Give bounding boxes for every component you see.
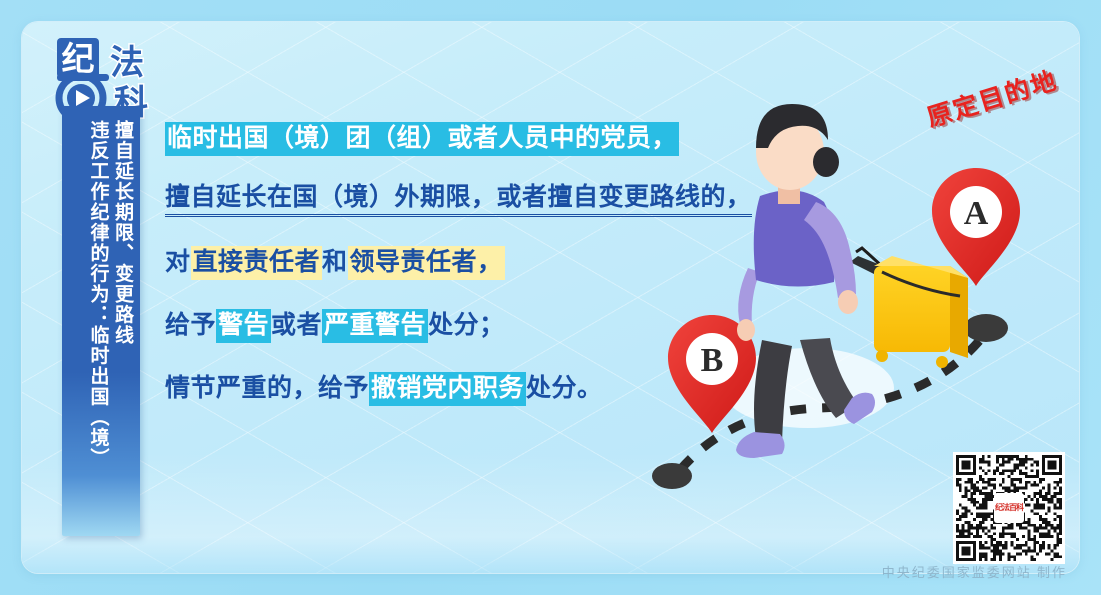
text-segment: 或者 (271, 313, 322, 338)
pin-a-label: A (964, 195, 989, 232)
text-segment: 情节严重的，给予 (165, 376, 369, 401)
pin-b-label: B (701, 342, 724, 379)
qr-center-badge: 纪法百科 (994, 493, 1024, 523)
qr-code[interactable]: 纪法百科 (953, 452, 1065, 564)
text-segment: 警告 (216, 309, 271, 343)
route-end-dot (964, 314, 1008, 342)
text-segment: 对 (165, 250, 191, 275)
svg-text:法: 法 (110, 44, 144, 82)
credit-line: 中央纪委国家监委网站 制作 (882, 562, 1067, 581)
text-segment: 临时出国（境）团（组）或者人员中的党员， (165, 122, 679, 156)
banner-line-right: 擅自延长期限、变更路线 (111, 120, 132, 536)
banner-line-left: 违反工作纪律的行为：临时出国（境） (87, 120, 108, 536)
yellow-suitcase (850, 248, 968, 368)
shoe-left (736, 432, 785, 458)
hair-bun (813, 147, 839, 177)
text-segment: 严重警告 (322, 309, 428, 343)
text-segment: 给予 (165, 313, 216, 338)
poster: 纪 法 科 擅自延长期限、变更路线 违反工作纪律的行为：临时出国（境） 临时出国… (0, 0, 1101, 595)
text-segment: 直接责任者 (191, 246, 323, 280)
vertical-title-banner: 擅自延长期限、变更路线 违反工作纪律的行为：临时出国（境） (62, 106, 140, 536)
text-segment: 撤销党内职务 (369, 372, 526, 406)
text-segment: 领导责任者， (348, 246, 505, 280)
text-segment: 和 (322, 250, 348, 275)
logo-char-ji: 纪 (57, 38, 99, 78)
text-segment: 处分； (428, 313, 505, 338)
logo-char-fa: 法 (110, 44, 144, 82)
route-start-dot (652, 463, 692, 489)
travel-illustration: B A (620, 90, 1050, 490)
text-segment: 处分。 (526, 376, 603, 401)
hand-right (838, 290, 858, 314)
svg-text:纪: 纪 (62, 41, 95, 78)
text-segment: 擅自延长在国（境）外期限， (165, 185, 497, 217)
